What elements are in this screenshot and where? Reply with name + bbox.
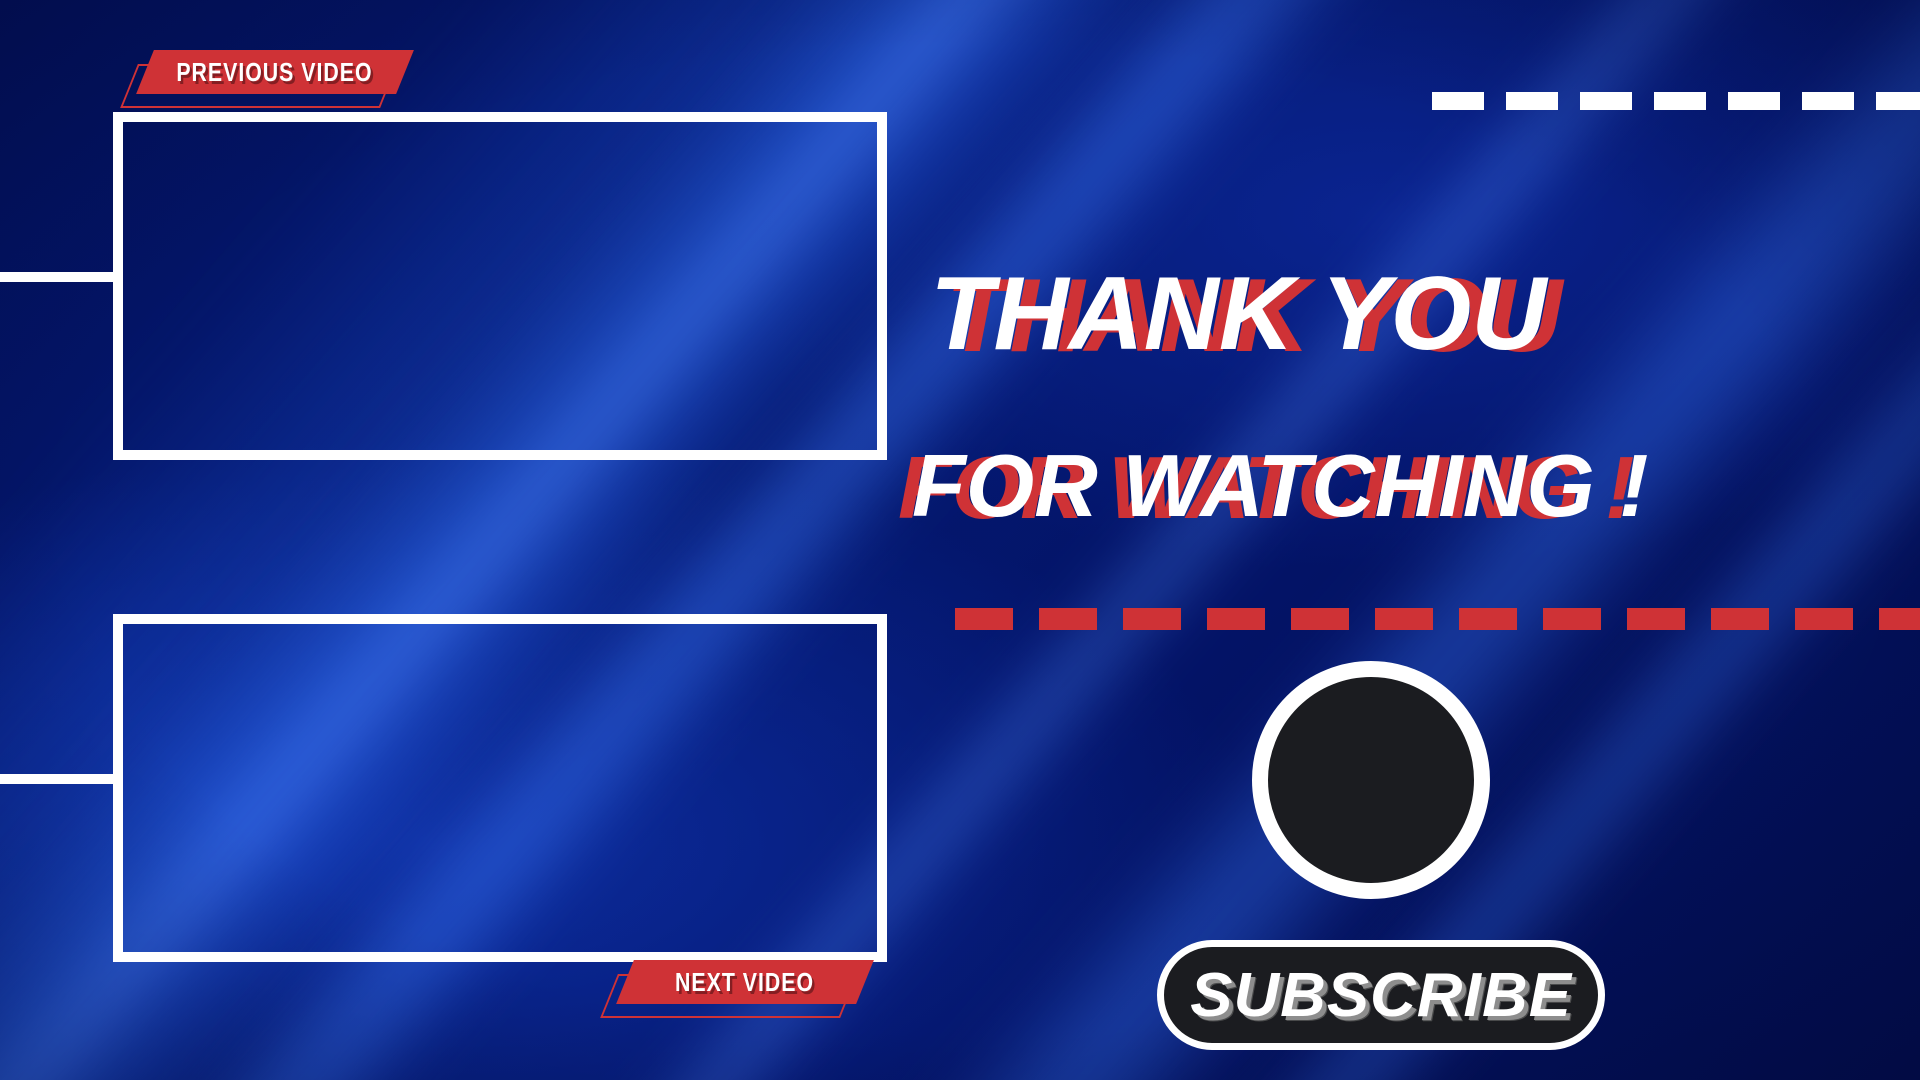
next-video-badge-label: NEXT VIDEO xyxy=(676,967,815,998)
subscribe-button[interactable]: SUBSCRIBE xyxy=(1157,940,1605,1050)
dash-segment xyxy=(1795,608,1853,630)
dash-segment xyxy=(955,608,1013,630)
dash-segment xyxy=(1123,608,1181,630)
dash-segment xyxy=(1654,92,1706,110)
dash-segment xyxy=(1506,92,1558,110)
previous-video-badge-label: PREVIOUS VIDEO xyxy=(177,57,373,88)
dash-segment xyxy=(1876,92,1920,110)
previous-video-thumbnail-slot[interactable] xyxy=(113,112,887,460)
dash-segment xyxy=(1459,608,1517,630)
subscribe-button-label: SUBSCRIBE xyxy=(1190,960,1572,1031)
mid-red-dashed-divider xyxy=(955,608,1881,630)
for-watching-heading-fill: FOR WATCHING ! xyxy=(912,442,1648,530)
channel-avatar[interactable] xyxy=(1252,661,1490,899)
dash-segment xyxy=(1879,608,1920,630)
top-white-dashed-divider xyxy=(1432,92,1920,110)
next-video-thumbnail-slot[interactable] xyxy=(113,614,887,962)
dash-segment xyxy=(1543,608,1601,630)
dash-segment xyxy=(1375,608,1433,630)
previous-video-badge[interactable]: PREVIOUS VIDEO xyxy=(136,50,414,94)
thank-you-heading: THANK YOU THANK YOU xyxy=(930,262,1546,366)
dash-segment xyxy=(1432,92,1484,110)
end-screen-canvas: PREVIOUS VIDEO NEXT VIDEO THANK YOU THAN… xyxy=(0,0,1920,1080)
dash-segment xyxy=(1580,92,1632,110)
dash-segment xyxy=(1627,608,1685,630)
dash-segment xyxy=(1802,92,1854,110)
previous-video-connector-line xyxy=(0,272,113,282)
thank-you-heading-fill: THANK YOU xyxy=(930,262,1546,366)
dash-segment xyxy=(1291,608,1349,630)
next-video-connector-line xyxy=(0,774,113,784)
for-watching-heading: FOR WATCHING ! FOR WATCHING ! xyxy=(912,442,1648,530)
dash-segment xyxy=(1728,92,1780,110)
dash-segment xyxy=(1207,608,1265,630)
dash-segment xyxy=(1711,608,1769,630)
dash-segment xyxy=(1039,608,1097,630)
next-video-badge[interactable]: NEXT VIDEO xyxy=(616,960,874,1004)
